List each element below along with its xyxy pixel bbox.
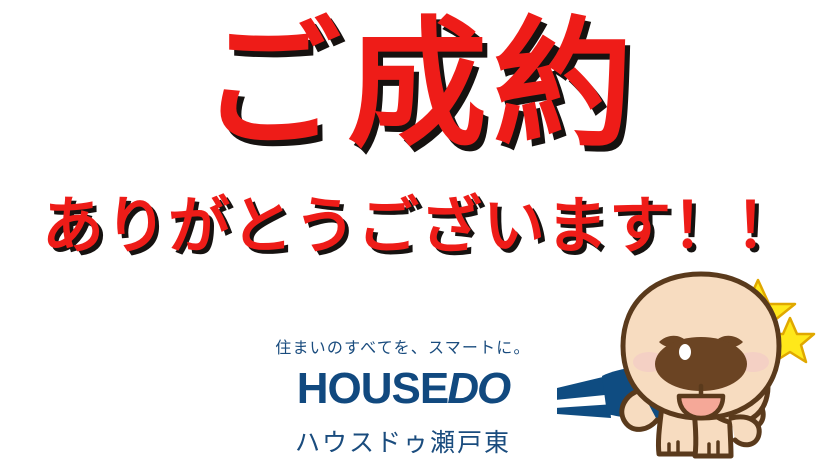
dog-muzzle [655, 337, 747, 391]
logo-tagline: 住まいのすべてを、スマートに。 [238, 334, 568, 358]
dog-tail [731, 417, 759, 445]
headline-text: ご成約 [0, 8, 840, 165]
logo-wordmark-house: HOUSE [297, 364, 448, 413]
house-do-logo: 住まいのすべてを、スマートに。 HOUSEDO ハウスドゥ瀬戸東 [238, 334, 568, 459]
mascot-dog [545, 268, 840, 472]
subheadline-text: ありがとうございます！！ [0, 192, 840, 260]
dog-tongue [679, 396, 723, 418]
store-name: ハウスドゥ瀬戸東 [238, 423, 568, 459]
nose-highlight [679, 344, 691, 360]
promo-banner: ご成約 ありがとうございます！！ 住まいのすべてを、スマートに。 HOUSEDO… [0, 0, 840, 472]
logo-wordmark: HOUSEDO [238, 367, 568, 411]
logo-wordmark-do: DO [447, 364, 509, 413]
